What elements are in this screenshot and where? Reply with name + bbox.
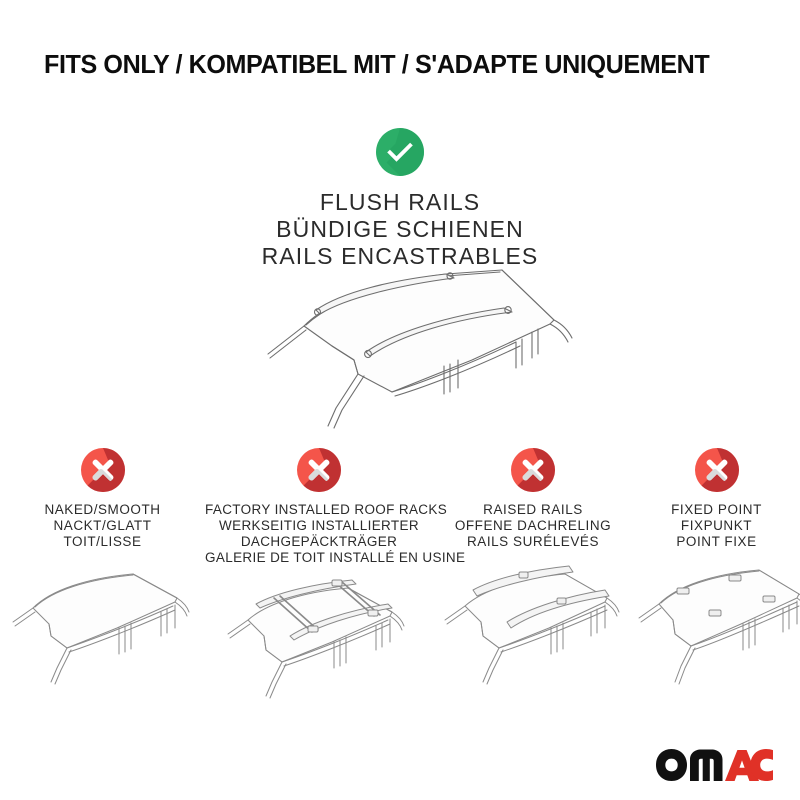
x-circle-icon (695, 448, 739, 492)
option-label-de: OFFENE DACHRELING (433, 518, 633, 534)
omac-logo: OMAC (655, 748, 773, 782)
option-label-en: FACTORY INSTALLED ROOF RACKS (205, 502, 433, 518)
incompatible-options-row: NAKED/SMOOTH NACKT/GLATT TOIT/LISSE (0, 448, 800, 709)
compatible-labels: FLUSH RAILS BÜNDIGE SCHIENEN RAILS ENCAS… (0, 189, 800, 270)
option-label-de-2: DACHGEPÄCKTRÄGER (205, 534, 433, 550)
option-factory-roof-racks: FACTORY INSTALLED ROOF RACKS WERKSEITIG … (205, 448, 433, 709)
hero-label-de: BÜNDIGE SCHIENEN (0, 216, 800, 243)
car-roof-flush-rails-illustration (232, 268, 580, 433)
x-circle-icon (511, 448, 555, 492)
car-roof-fixed-point-illustration (633, 558, 800, 693)
option-labels: FACTORY INSTALLED ROOF RACKS WERKSEITIG … (205, 502, 433, 566)
option-label-fr: POINT FIXE (633, 534, 800, 550)
option-label-fr: TOIT/LISSE (0, 534, 205, 550)
hero-label-en: FLUSH RAILS (0, 189, 800, 216)
option-raised-rails: RAISED RAILS OFFENE DACHRELING RAILS SUR… (433, 448, 633, 693)
option-label-de: NACKT/GLATT (0, 518, 205, 534)
option-label-de: FIXPUNKT (633, 518, 800, 534)
hero-label-fr: RAILS ENCASTRABLES (0, 243, 800, 270)
option-label-fr: GALERIE DE TOIT INSTALLÉ EN USINE (205, 550, 433, 566)
option-label-en: RAISED RAILS (433, 502, 633, 518)
x-circle-icon (297, 448, 341, 492)
car-roof-factory-racks-illustration (205, 574, 433, 709)
option-fixed-point: FIXED POINT FIXPUNKT POINT FIXE (633, 448, 800, 693)
option-labels: FIXED POINT FIXPUNKT POINT FIXE (633, 502, 800, 550)
x-circle-icon (81, 448, 125, 492)
compatible-section: FLUSH RAILS BÜNDIGE SCHIENEN RAILS ENCAS… (0, 128, 800, 270)
page-title: FITS ONLY / KOMPATIBEL MIT / S'ADAPTE UN… (44, 51, 753, 80)
option-label-en: NAKED/SMOOTH (0, 502, 205, 518)
check-circle-icon (376, 128, 424, 176)
option-label-fr: RAILS SURÉLEVÉS (433, 534, 633, 550)
option-label-en: FIXED POINT (633, 502, 800, 518)
option-labels: RAISED RAILS OFFENE DACHRELING RAILS SUR… (433, 502, 633, 550)
option-labels: NAKED/SMOOTH NACKT/GLATT TOIT/LISSE (0, 502, 205, 550)
car-roof-raised-rails-illustration (433, 558, 633, 693)
car-roof-naked-smooth-illustration (0, 558, 205, 693)
option-label-de-1: WERKSEITIG INSTALLIERTER (205, 518, 433, 534)
option-naked-smooth: NAKED/SMOOTH NACKT/GLATT TOIT/LISSE (0, 448, 205, 693)
